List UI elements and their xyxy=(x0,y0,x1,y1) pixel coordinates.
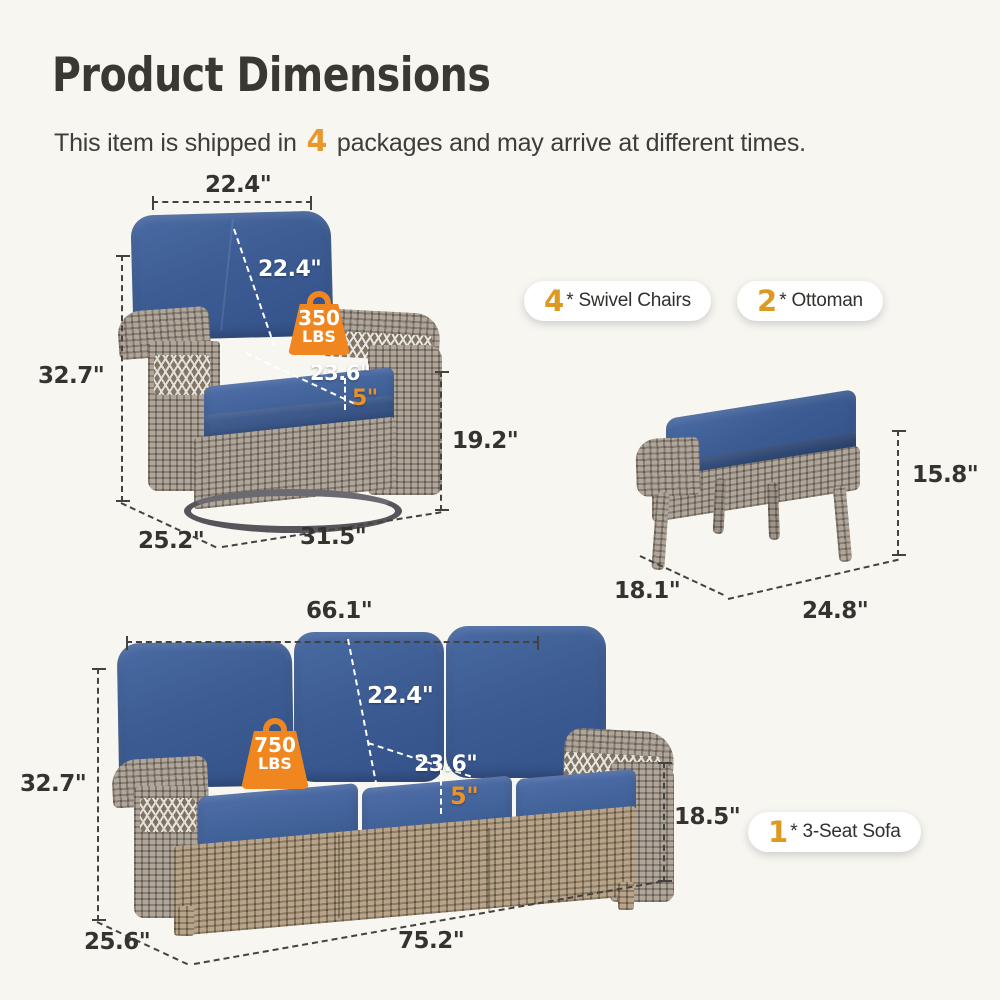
ottoman-width-label: 24.8" xyxy=(802,598,868,624)
sofa-back-width-label: 66.1" xyxy=(306,598,372,624)
sofa-leg-left xyxy=(178,906,194,936)
shipping-note-before: This item is shipped in xyxy=(54,129,297,157)
product-dimensions-infographic: Product Dimensions This item is shipped … xyxy=(0,0,1000,1000)
sofa-weight-unit: LBS xyxy=(241,756,309,773)
sofa-weight-value: 750 xyxy=(241,735,309,756)
sofa-illustration xyxy=(112,620,672,920)
chair-weight-value: 350 xyxy=(288,308,350,329)
pill-ottoman-label: * Ottoman xyxy=(779,290,863,312)
chair-weight-unit: LBS xyxy=(288,329,350,346)
sofa-base-seam-left xyxy=(338,834,340,918)
chair-back-width-label: 22.4" xyxy=(205,172,271,198)
swivel-chair-illustration xyxy=(118,205,458,535)
pill-ottoman[interactable]: 2 * Ottoman xyxy=(737,281,883,321)
ottoman-leg-back-left xyxy=(713,478,727,534)
pill-swivel-chairs-label: * Swivel Chairs xyxy=(566,290,691,312)
sofa-seat-height-label: 18.5" xyxy=(674,804,740,830)
ottoman-height-label: 15.8" xyxy=(912,462,978,488)
sofa-left-decorative-band xyxy=(140,798,196,832)
chair-left-decorative-band xyxy=(154,355,210,395)
ottoman-left-side xyxy=(635,437,701,497)
package-count: 4 xyxy=(303,124,330,159)
sofa-back-height-label: 22.4" xyxy=(367,683,433,709)
ottoman-illustration xyxy=(630,400,890,580)
sofa-cushion-thickness-label: 5" xyxy=(450,782,478,810)
ottoman-leg-front-right xyxy=(833,486,853,563)
chair-depth-label: 25.2" xyxy=(138,528,204,554)
chair-seat-height-label: 19.2" xyxy=(452,428,518,454)
ottoman-leg-back-right xyxy=(767,482,780,540)
chair-seat-depth-label: 23.6" xyxy=(310,361,370,385)
pill-sofa[interactable]: 1 * 3-Seat Sofa xyxy=(748,812,921,852)
sofa-depth-label: 25.6" xyxy=(84,929,150,955)
chair-back-height-label: 22.4" xyxy=(258,257,321,282)
sofa-seat-depth-label: 23.6" xyxy=(414,752,477,777)
pill-swivel-chairs[interactable]: 4 * Swivel Chairs xyxy=(524,281,711,321)
chair-width-label: 31.5" xyxy=(300,524,366,550)
ottoman-height-line xyxy=(897,430,899,556)
chair-back-width-line xyxy=(152,201,312,203)
sofa-base-seam-right xyxy=(488,828,490,912)
pill-ottoman-qty: 2 xyxy=(757,284,777,318)
chair-weight-capacity-badge: 350 LBS xyxy=(288,291,350,355)
chair-swivel-base xyxy=(184,489,402,533)
page-title: Product Dimensions xyxy=(52,48,490,103)
shipping-note-after: packages and may arrive at different tim… xyxy=(337,129,806,157)
chair-overall-height-label: 32.7" xyxy=(38,363,104,389)
sofa-leg-right xyxy=(618,882,634,910)
sofa-width-label: 75.2" xyxy=(398,928,464,954)
ottoman-depth-label: 18.1" xyxy=(614,578,680,604)
sofa-weight-capacity-badge: 750 LBS xyxy=(241,718,309,790)
pill-sofa-qty: 1 xyxy=(768,815,788,849)
chair-cushion-thickness-label: 5" xyxy=(352,386,378,411)
pill-sofa-label: * 3-Seat Sofa xyxy=(790,821,900,843)
sofa-overall-height-label: 32.7" xyxy=(20,771,86,797)
pill-swivel-chairs-qty: 4 xyxy=(544,284,564,318)
shipping-note: This item is shipped in 4 packages and m… xyxy=(54,124,806,159)
sofa-overall-height-line xyxy=(97,668,99,921)
